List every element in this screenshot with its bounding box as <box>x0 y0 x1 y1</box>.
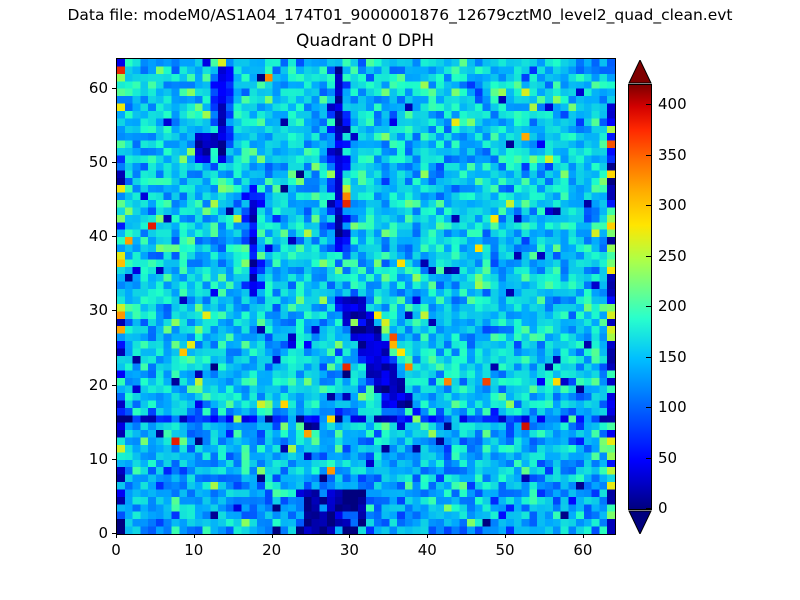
colorbar-tick-label: 300 <box>658 196 687 214</box>
y-tick-label: 30 <box>70 301 108 319</box>
colorbar-tick-mark <box>646 357 651 358</box>
y-tick-label: 60 <box>70 79 108 97</box>
colorbar-tick-label: 200 <box>658 297 687 315</box>
colorbar-gradient <box>629 85 651 509</box>
colorbar-tick-mark <box>646 205 651 206</box>
x-tick-mark <box>194 534 195 538</box>
x-tick-mark <box>116 534 117 538</box>
heatmap-plot-area[interactable] <box>116 58 616 535</box>
y-tick-mark <box>112 533 116 534</box>
colorbar-tick-mark <box>646 407 651 408</box>
x-tick-label: 20 <box>262 541 281 559</box>
colorbar[interactable] <box>628 84 652 510</box>
colorbar-tick-label: 100 <box>658 398 687 416</box>
x-tick-label: 40 <box>418 541 437 559</box>
colorbar-tick-label: 400 <box>658 95 687 113</box>
x-tick-mark <box>583 534 584 538</box>
colorbar-tick-label: 0 <box>658 499 668 517</box>
colorbar-tick-mark <box>646 256 651 257</box>
y-tick-mark <box>112 88 116 89</box>
y-tick-label: 40 <box>70 227 108 245</box>
colorbar-tick-mark <box>646 155 651 156</box>
y-tick-label: 0 <box>70 524 108 542</box>
colorbar-tick-mark <box>646 458 651 459</box>
colorbar-extend-top-arrow-icon <box>628 60 652 84</box>
x-tick-label: 50 <box>496 541 515 559</box>
chart-title: Quadrant 0 DPH <box>116 31 614 51</box>
y-tick-label: 50 <box>70 153 108 171</box>
x-tick-label: 10 <box>184 541 203 559</box>
colorbar-tick-label: 250 <box>658 247 687 265</box>
y-tick-mark <box>112 385 116 386</box>
y-tick-mark <box>112 459 116 460</box>
colorbar-tick-label: 150 <box>658 348 687 366</box>
colorbar-tick-mark <box>646 104 651 105</box>
y-tick-mark <box>112 162 116 163</box>
y-tick-label: 20 <box>70 376 108 394</box>
y-tick-mark <box>112 236 116 237</box>
y-tick-label: 10 <box>70 450 108 468</box>
x-tick-mark <box>505 534 506 538</box>
colorbar-tick-label: 50 <box>658 449 677 467</box>
x-tick-mark <box>272 534 273 538</box>
x-tick-label: 0 <box>111 541 121 559</box>
colorbar-extend-bottom-arrow-icon <box>628 510 652 534</box>
colorbar-tick-mark <box>646 306 651 307</box>
colorbar-tick-mark <box>646 508 651 509</box>
x-tick-mark <box>427 534 428 538</box>
figure-suptitle: Data file: modeM0/AS1A04_174T01_90000018… <box>0 6 800 24</box>
heatmap-image[interactable] <box>117 59 615 534</box>
x-tick-mark <box>349 534 350 538</box>
colorbar-tick-label: 350 <box>658 146 687 164</box>
y-tick-mark <box>112 310 116 311</box>
x-tick-label: 60 <box>573 541 592 559</box>
x-tick-label: 30 <box>340 541 359 559</box>
